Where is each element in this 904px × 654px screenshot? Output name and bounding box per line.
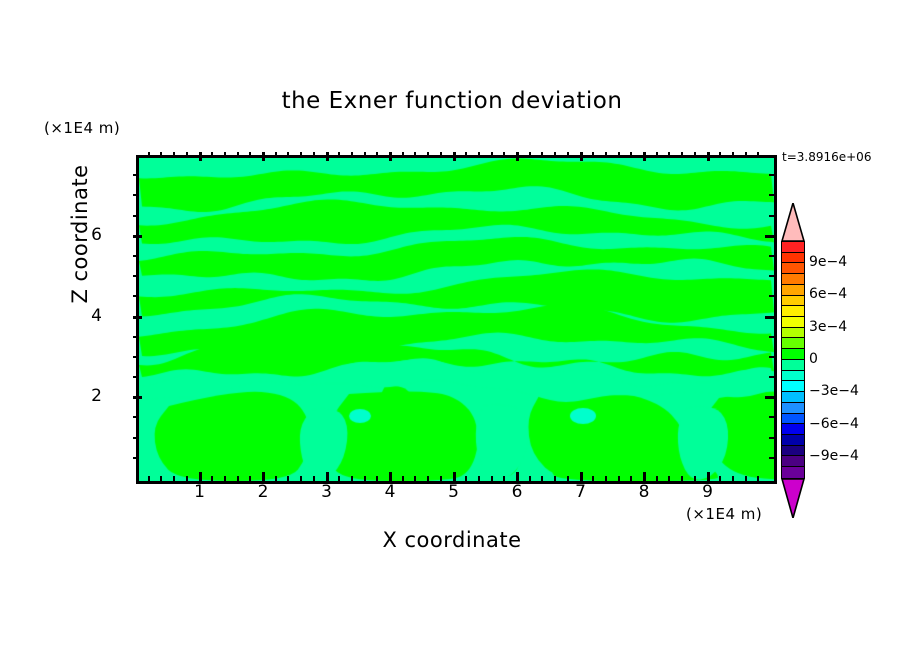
- axis-tick: [618, 476, 620, 481]
- axis-tick: [465, 476, 467, 481]
- axis-tick: [592, 476, 594, 481]
- axis-tick: [605, 152, 607, 157]
- axis-tick: [133, 235, 142, 238]
- axis-tick: [491, 476, 493, 481]
- axis-tick: [173, 152, 175, 157]
- axis-tick: [275, 152, 277, 157]
- axis-tick: [133, 275, 138, 277]
- colorbar-band: [782, 285, 804, 296]
- axis-tick: [769, 336, 774, 338]
- axis-tick: [769, 255, 774, 257]
- axis-tick: [491, 152, 493, 157]
- x-tick-label: 7: [566, 482, 596, 502]
- axis-tick: [199, 152, 202, 161]
- axis-tick: [668, 152, 670, 157]
- x-tick-label: 5: [439, 482, 469, 502]
- axis-tick: [465, 152, 467, 157]
- axis-tick: [630, 152, 632, 157]
- colorbar-tick-label: 3e−4: [809, 319, 847, 335]
- axis-tick: [237, 476, 239, 481]
- colorbar-band: [782, 317, 804, 328]
- axis-tick: [262, 152, 265, 161]
- axis-tick: [769, 457, 774, 459]
- axis-tick: [769, 295, 774, 297]
- colorbar: 9e−46e−43e−40−3e−4−6e−4−9e−4: [781, 203, 805, 517]
- colorbar-upper-extend-arrow: [781, 203, 805, 242]
- axis-tick: [769, 416, 774, 418]
- colorbar-band: [782, 242, 804, 253]
- colorbar-band: [782, 392, 804, 403]
- axis-tick: [453, 152, 456, 161]
- contour-field-canvas: [139, 158, 774, 481]
- axis-tick: [364, 152, 366, 157]
- axis-tick: [529, 152, 531, 157]
- axis-tick: [160, 152, 162, 157]
- axis-tick: [249, 476, 251, 481]
- axis-tick: [338, 476, 340, 481]
- axis-tick: [630, 476, 632, 481]
- x-tick-label: 2: [248, 482, 278, 502]
- axis-tick: [541, 152, 543, 157]
- x-tick-label: 3: [312, 482, 342, 502]
- colorbar-band: [782, 306, 804, 317]
- axis-tick: [769, 356, 774, 358]
- colorbar-tick-label: 0: [809, 351, 818, 367]
- axis-tick: [681, 152, 683, 157]
- axis-tick: [173, 476, 175, 481]
- colorbar-bands: [781, 241, 805, 479]
- colorbar-tick-label: −9e−4: [809, 448, 859, 464]
- contour-plot-area: [136, 155, 777, 484]
- colorbar-tick-label: −3e−4: [809, 383, 859, 399]
- colorbar-tick-label: 9e−4: [809, 254, 847, 270]
- axis-tick: [313, 476, 315, 481]
- axis-tick: [732, 152, 734, 157]
- axis-tick: [160, 476, 162, 481]
- axis-tick: [541, 476, 543, 481]
- axis-tick: [478, 476, 480, 481]
- axis-tick: [681, 476, 683, 481]
- axis-tick: [287, 152, 289, 157]
- axis-tick: [133, 174, 138, 176]
- axis-tick: [765, 235, 774, 238]
- time-annotation: t=3.8916e+06: [782, 150, 871, 164]
- x-tick-label: 6: [502, 482, 532, 502]
- colorbar-band: [782, 414, 804, 425]
- axis-tick: [148, 152, 150, 157]
- axis-tick: [668, 476, 670, 481]
- x-tick-label: 8: [629, 482, 659, 502]
- axis-tick: [249, 152, 251, 157]
- axis-tick: [769, 194, 774, 196]
- axis-tick: [133, 194, 138, 196]
- colorbar-band: [782, 274, 804, 285]
- axis-tick: [224, 152, 226, 157]
- axis-tick: [757, 476, 759, 481]
- axis-tick: [133, 376, 138, 378]
- axis-tick: [427, 476, 429, 481]
- axis-tick: [300, 476, 302, 481]
- axis-tick: [567, 476, 569, 481]
- axis-tick: [516, 472, 519, 481]
- colorbar-band: [782, 446, 804, 457]
- axis-tick: [440, 152, 442, 157]
- colorbar-band: [782, 467, 804, 478]
- y-axis-title: Z coordinate: [68, 134, 92, 334]
- axis-tick: [769, 215, 774, 217]
- colorbar-band: [782, 371, 804, 382]
- colorbar-band: [782, 435, 804, 446]
- axis-tick: [580, 472, 583, 481]
- axis-tick: [275, 476, 277, 481]
- axis-tick: [389, 152, 392, 161]
- axis-tick: [765, 396, 774, 399]
- axis-tick: [503, 152, 505, 157]
- axis-tick: [133, 457, 138, 459]
- axis-tick: [643, 152, 646, 161]
- axis-tick: [554, 476, 556, 481]
- axis-tick: [338, 152, 340, 157]
- axis-tick: [707, 472, 710, 481]
- axis-tick: [402, 152, 404, 157]
- axis-tick: [516, 152, 519, 161]
- axis-tick: [478, 152, 480, 157]
- axis-tick: [402, 476, 404, 481]
- colorbar-band: [782, 263, 804, 274]
- axis-tick: [529, 476, 531, 481]
- axis-tick: [765, 316, 774, 319]
- axis-tick: [732, 476, 734, 481]
- axis-tick: [133, 255, 138, 257]
- axis-tick: [133, 356, 138, 358]
- axis-tick: [440, 476, 442, 481]
- axis-tick: [769, 275, 774, 277]
- colorbar-band: [782, 328, 804, 339]
- axis-tick: [148, 476, 150, 481]
- colorbar-band: [782, 381, 804, 392]
- axis-tick: [643, 472, 646, 481]
- x-tick-label: 4: [375, 482, 405, 502]
- axis-tick: [694, 476, 696, 481]
- axis-tick: [326, 472, 329, 481]
- axis-tick: [237, 152, 239, 157]
- axis-tick: [133, 336, 138, 338]
- axis-tick: [351, 152, 353, 157]
- axis-tick: [133, 437, 138, 439]
- axis-tick: [326, 152, 329, 161]
- axis-tick: [567, 152, 569, 157]
- colorbar-band: [782, 296, 804, 307]
- axis-tick: [745, 152, 747, 157]
- colorbar-tick-label: −6e−4: [809, 416, 859, 432]
- axis-tick: [186, 476, 188, 481]
- axis-tick: [133, 215, 138, 217]
- colorbar-band: [782, 360, 804, 371]
- axis-tick: [224, 476, 226, 481]
- axis-tick: [133, 316, 142, 319]
- axis-tick: [262, 472, 265, 481]
- axis-tick: [745, 476, 747, 481]
- axis-tick: [351, 476, 353, 481]
- x-tick-label: 1: [185, 482, 215, 502]
- axis-tick: [580, 152, 583, 161]
- axis-tick: [133, 396, 142, 399]
- axis-tick: [719, 152, 721, 157]
- axis-tick: [199, 472, 202, 481]
- x-tick-label: 9: [693, 482, 723, 502]
- axis-tick: [656, 476, 658, 481]
- x-axis-unit-label: (×1E4 m): [686, 505, 762, 523]
- colorbar-band: [782, 456, 804, 467]
- axis-tick: [186, 152, 188, 157]
- axis-tick: [364, 476, 366, 481]
- axis-tick: [376, 152, 378, 157]
- axis-tick: [769, 437, 774, 439]
- x-axis-title: X coordinate: [0, 528, 904, 552]
- colorbar-band: [782, 403, 804, 414]
- colorbar-band: [782, 253, 804, 264]
- axis-tick: [453, 472, 456, 481]
- axis-tick: [427, 152, 429, 157]
- axis-tick: [287, 476, 289, 481]
- axis-tick: [694, 152, 696, 157]
- colorbar-tick-label: 6e−4: [809, 286, 847, 302]
- axis-tick: [769, 376, 774, 378]
- axis-tick: [769, 174, 774, 176]
- axis-tick: [389, 472, 392, 481]
- axis-tick: [605, 476, 607, 481]
- axis-tick: [757, 152, 759, 157]
- axis-tick: [618, 152, 620, 157]
- axis-tick: [376, 476, 378, 481]
- axis-tick: [503, 476, 505, 481]
- colorbar-lower-extend-arrow: [781, 478, 805, 518]
- axis-tick: [211, 476, 213, 481]
- axis-tick: [592, 152, 594, 157]
- axis-tick: [554, 152, 556, 157]
- axis-tick: [414, 152, 416, 157]
- axis-tick: [719, 476, 721, 481]
- axis-tick: [133, 295, 138, 297]
- colorbar-band: [782, 349, 804, 360]
- axis-tick: [133, 416, 138, 418]
- axis-tick: [707, 152, 710, 161]
- axis-tick: [414, 476, 416, 481]
- colorbar-band: [782, 424, 804, 435]
- axis-tick: [211, 152, 213, 157]
- axis-tick: [300, 152, 302, 157]
- y-tick-label: 2: [62, 386, 102, 406]
- colorbar-band: [782, 338, 804, 349]
- axis-tick: [313, 152, 315, 157]
- axis-tick: [656, 152, 658, 157]
- page-title: the Exner function deviation: [0, 88, 904, 114]
